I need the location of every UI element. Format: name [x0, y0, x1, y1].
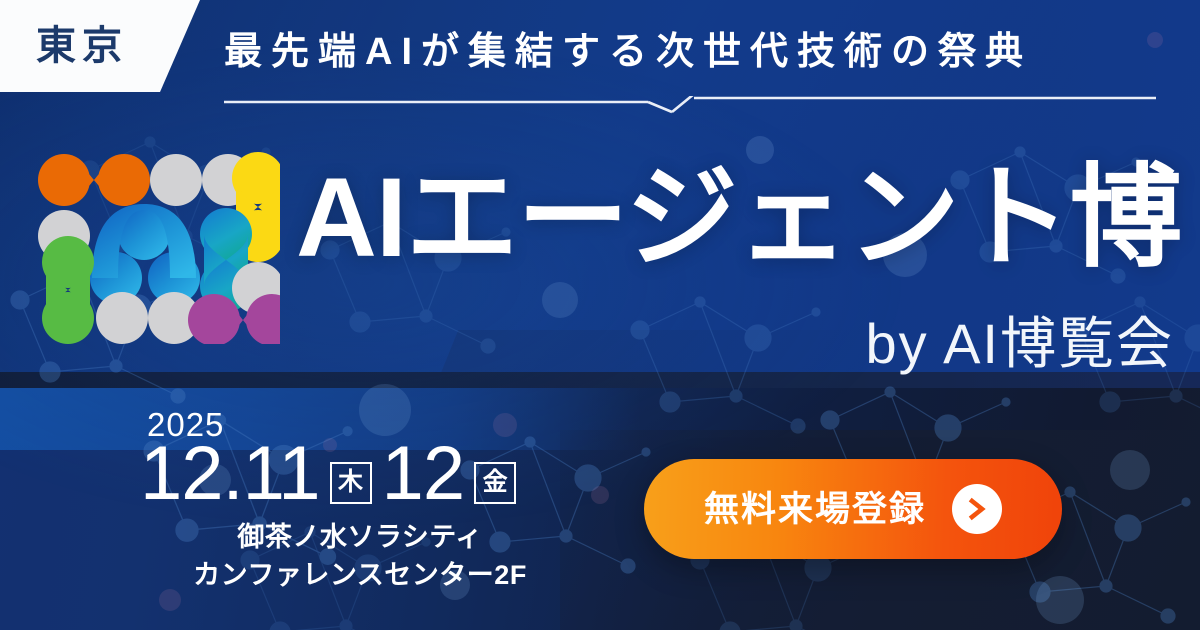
- chevron-right-icon: [952, 484, 1002, 534]
- page-title: AIエージェント博: [296, 162, 1181, 274]
- event-banner: 東京 最先端AIが集結する次世代技術の祭典: [0, 0, 1200, 630]
- event-day1: 12.11: [140, 439, 320, 509]
- event-day2-dow: 金: [474, 462, 516, 504]
- city-badge-label: 東京: [36, 26, 128, 66]
- logo-cell-grey-circle: [96, 292, 148, 344]
- venue: 御茶ノ水ソラシティ カンファレンスセンター2F: [140, 518, 580, 595]
- logo-cell-orange-dumbbell: [38, 154, 150, 206]
- tagline: 最先端AIが集結する次世代技術の祭典: [224, 33, 1154, 71]
- venue-line-2: カンファレンスセンター2F: [140, 556, 580, 594]
- event-date: 2025 12.11 木 12 金: [140, 408, 590, 509]
- event-date-row: 12.11 木 12 金: [140, 439, 590, 509]
- venue-line-1: 御茶ノ水ソラシティ: [140, 518, 580, 556]
- logo-cell-green-dumbbell: [42, 236, 94, 344]
- ai-hakurankai-logo-mark: [36, 152, 280, 344]
- event-day1-dow: 木: [330, 462, 372, 504]
- free-registration-button[interactable]: 無料来場登録: [644, 459, 1062, 559]
- tagline-divider: [224, 96, 1156, 116]
- subtitle: by AI博覧会: [865, 316, 1174, 372]
- free-registration-label: 無料来場登録: [704, 492, 926, 527]
- logo-cell-a-node: [90, 204, 200, 304]
- logo-cell-grey-circle: [150, 154, 202, 206]
- event-day2: 12: [382, 439, 465, 509]
